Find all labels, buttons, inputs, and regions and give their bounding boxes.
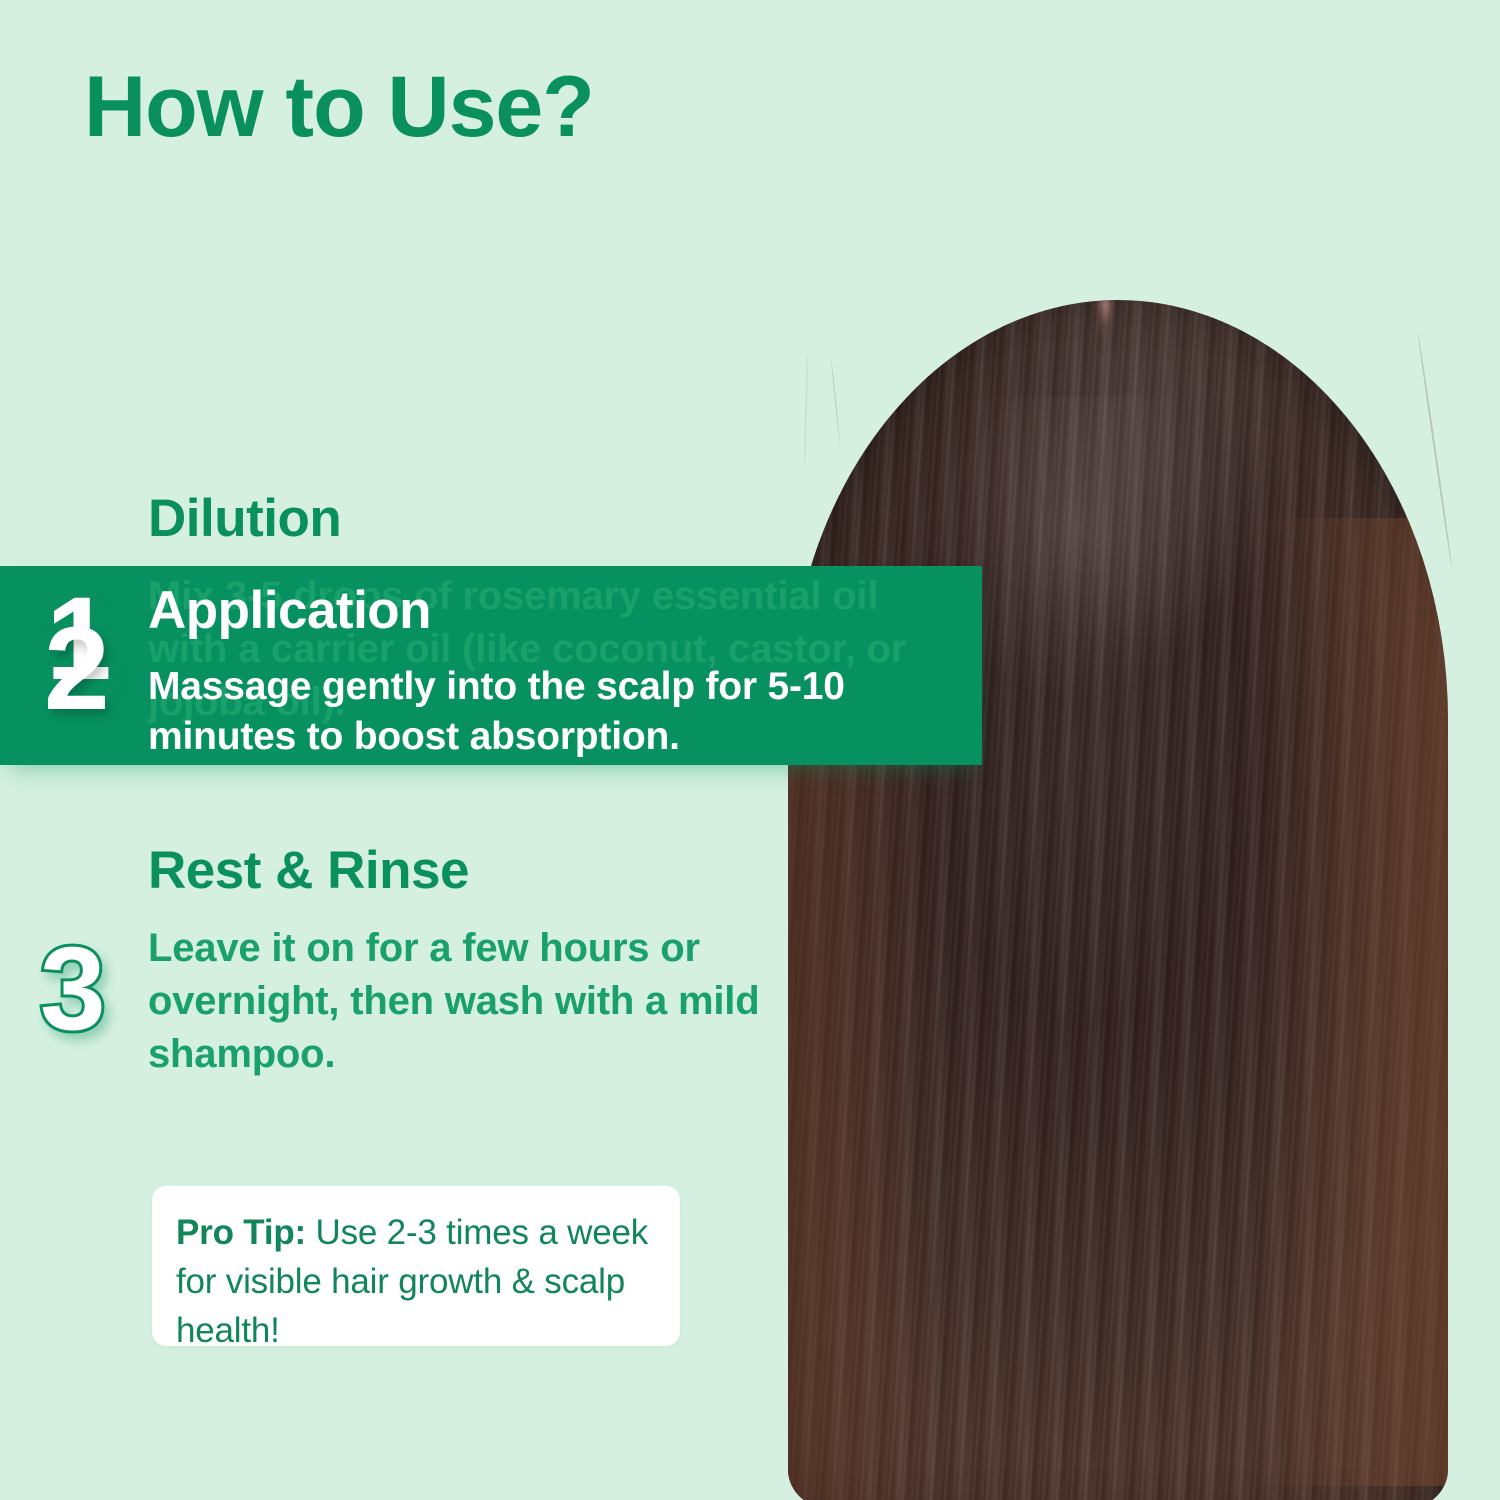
pro-tip-label: Pro Tip:: [176, 1213, 306, 1252]
step-2-number: 2: [44, 610, 110, 728]
page-title: How to Use?: [84, 58, 594, 157]
step-3-heading: Rest & Rinse: [148, 840, 469, 901]
pro-tip-text: Pro Tip: Use 2-3 times a week for visibl…: [176, 1208, 652, 1355]
step-2-body: Massage gently into the scalp for 5-10 m…: [148, 662, 958, 762]
infographic-canvas: How to Use? 1 Dilution Mix 3-5 drops of …: [0, 0, 1500, 1500]
hair-highlight-right: [1250, 518, 1448, 1486]
step-1-heading: Dilution: [148, 488, 341, 549]
model-hair: [788, 300, 1448, 1500]
hair-parting: [1092, 300, 1118, 420]
step-2-heading: Application: [148, 580, 431, 641]
step-3-body: Leave it on for a few hours or overnight…: [148, 922, 848, 1082]
step-3-number: 3: [40, 930, 106, 1048]
pro-tip-card: Pro Tip: Use 2-3 times a week for visibl…: [152, 1186, 680, 1346]
